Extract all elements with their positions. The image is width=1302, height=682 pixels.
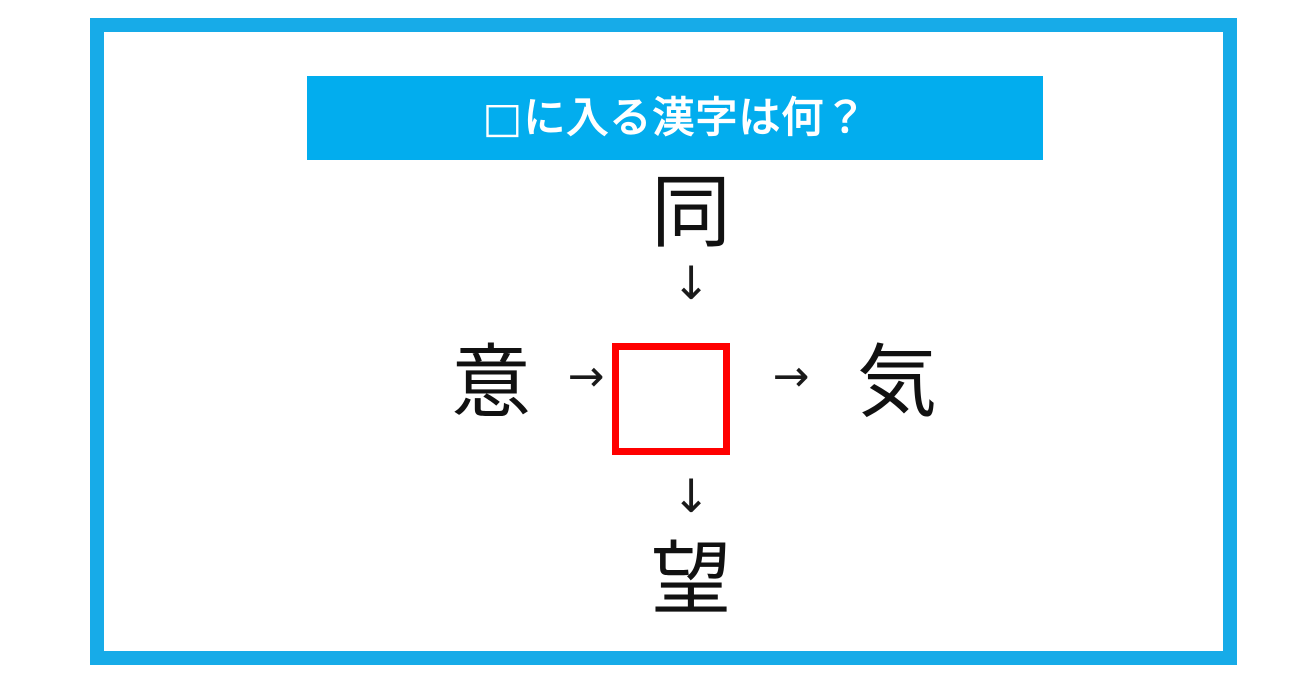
- answer-box[interactable]: [612, 343, 730, 455]
- kanji-bottom: 望: [631, 540, 751, 620]
- arrow-down-top-icon: ↓: [641, 260, 741, 306]
- kanji-right: 気: [837, 343, 957, 423]
- question-text: □に入る漢字は何？: [483, 97, 868, 139]
- kanji-diagram: 同 ↓ 意 → → 気 ↓ 望: [90, 165, 1237, 635]
- arrow-down-bottom-icon: ↓: [641, 473, 741, 519]
- arrow-right-right-icon: →: [736, 355, 846, 399]
- question-banner: □に入る漢字は何？: [307, 76, 1043, 160]
- answer-value: [619, 350, 723, 448]
- puzzle-page: □に入る漢字は何？ 同 ↓ 意 → → 気 ↓ 望: [0, 0, 1302, 682]
- kanji-top: 同: [631, 173, 751, 253]
